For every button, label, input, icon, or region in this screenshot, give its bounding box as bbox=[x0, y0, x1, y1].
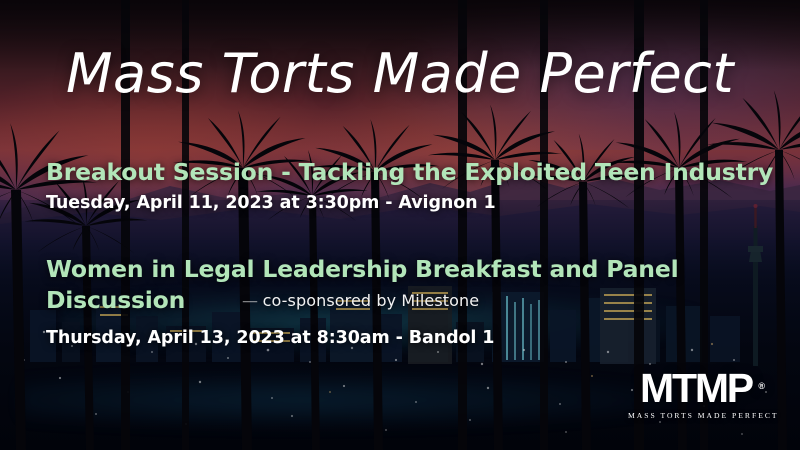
session-1-datetime: Tuesday, April 11, 2023 at 3:30pm - Avig… bbox=[46, 193, 773, 213]
mtmp-logo: MTMP ® MASS TORTS MADE PERFECT bbox=[628, 368, 764, 420]
logo-wordmark: MTMP ® bbox=[628, 368, 764, 408]
session-2-datetime: Thursday, April 13, 2023 at 8:30am - Ban… bbox=[46, 328, 686, 348]
session-2-sponsor: — co-sponsored by Milestone bbox=[242, 291, 479, 311]
page-title: Mass Torts Made Perfect bbox=[0, 42, 800, 105]
logo-tagline: MASS TORTS MADE PERFECT bbox=[628, 411, 764, 420]
logo-mark-text: MTMP bbox=[640, 365, 752, 411]
sponsor-dash: — bbox=[242, 291, 258, 310]
registered-trademark-icon: ® bbox=[758, 366, 765, 406]
sponsor-note: co-sponsored by Milestone bbox=[263, 291, 480, 310]
session-block-1: Breakout Session - Tackling the Exploite… bbox=[46, 157, 773, 213]
promo-graphic: Mass Torts Made Perfect Breakout Session… bbox=[0, 0, 800, 450]
session-1-title: Breakout Session - Tackling the Exploite… bbox=[46, 157, 773, 188]
session-block-2: Women in Legal Leadership Breakfast and … bbox=[46, 254, 686, 348]
